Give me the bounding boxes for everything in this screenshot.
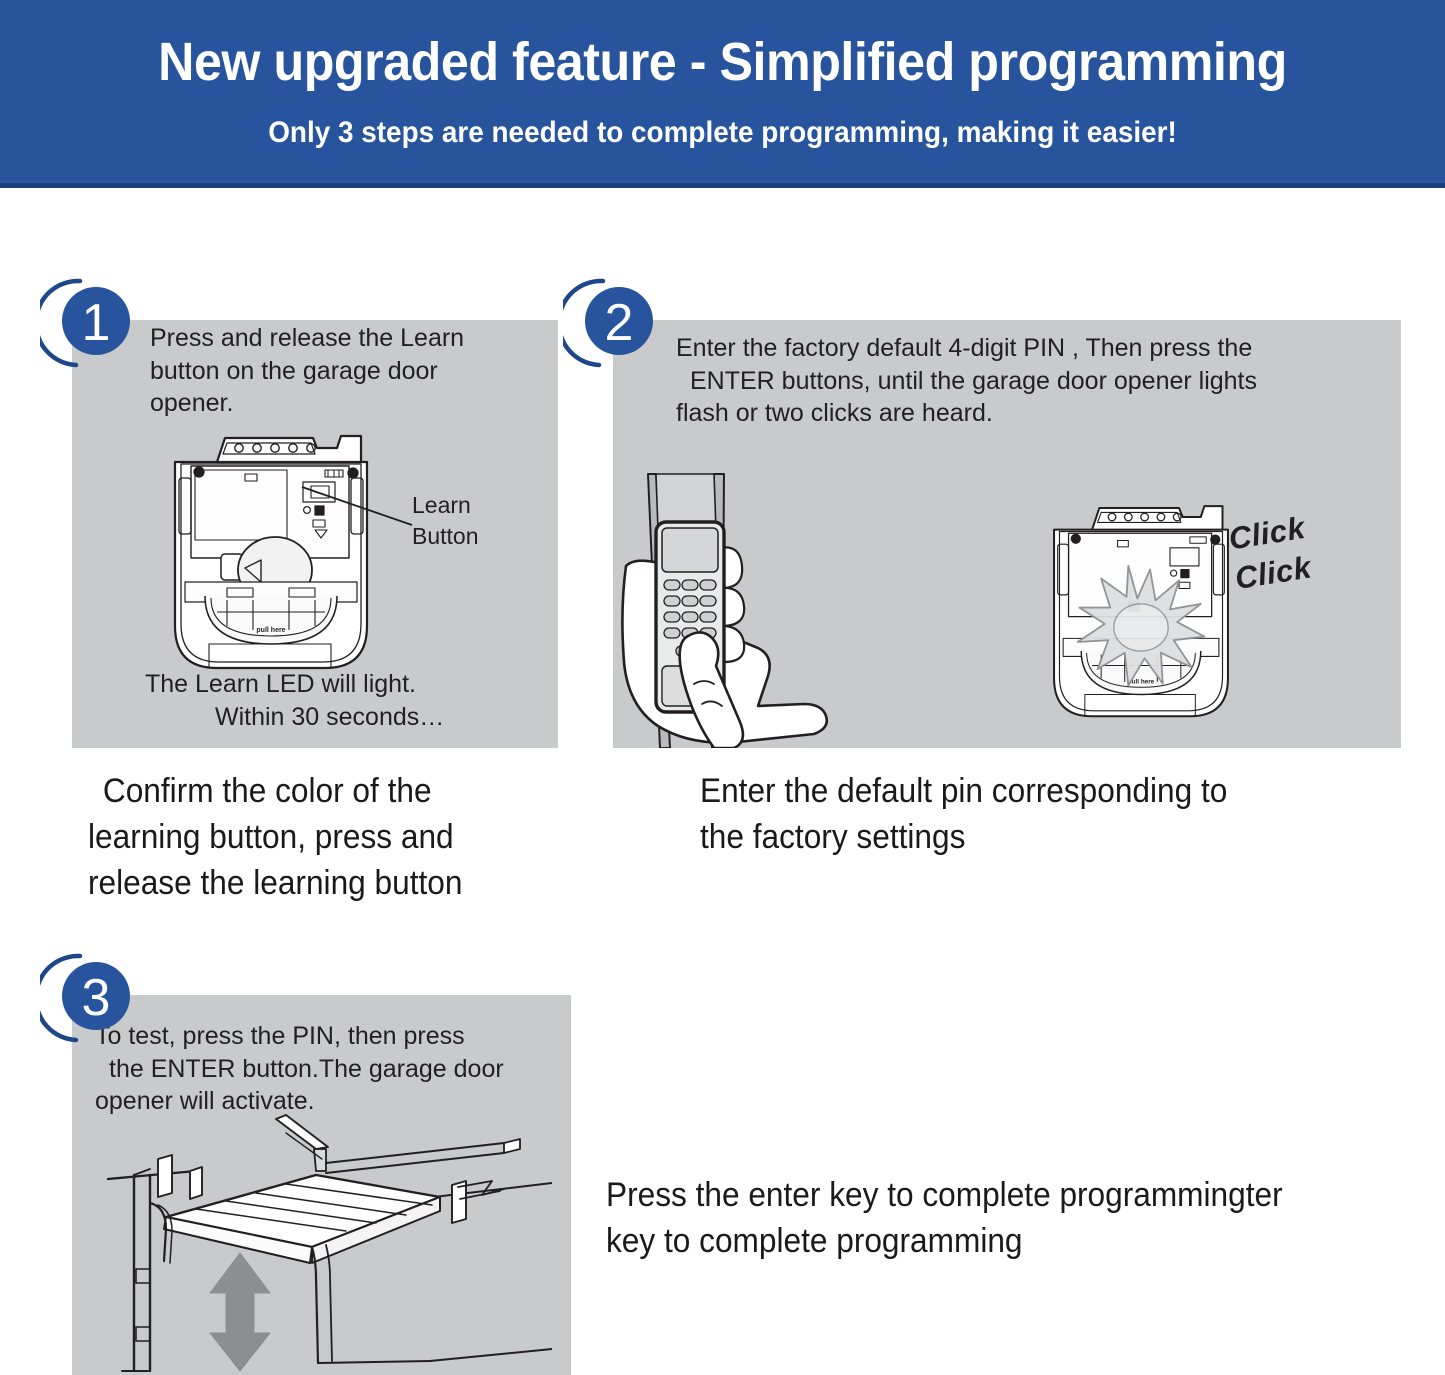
step-2-instruction-line-2: ENTER buttons, until the garage door ope… (676, 365, 1386, 398)
step-2-instruction-line-1: Enter the factory default 4-digit PIN , … (676, 332, 1386, 365)
hand-holding-keypad-illustration (618, 470, 833, 748)
garage-door-illustration (100, 1113, 552, 1375)
up-down-arrow (210, 1253, 270, 1371)
svg-text:pull here: pull here (256, 627, 285, 634)
step-1-caption-line-3: release the learning button (88, 860, 609, 906)
step-1-instruction-line-3: opener. (150, 387, 510, 420)
step-3-instruction-line-1: To test, press the PIN, then press (95, 1020, 555, 1053)
step-2-caption: Enter the default pin corresponding to t… (700, 768, 1407, 860)
learn-button-callout-line-2: Button (412, 521, 479, 552)
step-1-instruction-text: Press and release the Learn button on th… (150, 322, 510, 420)
step-2-caption-line-1: Enter the default pin corresponding to (700, 768, 1407, 814)
step-1-instruction-line-2: button on the garage door (150, 355, 510, 388)
click-sound-label: Click Click (1226, 508, 1314, 598)
step-3-caption-line-1: Press the enter key to complete programm… (606, 1172, 1443, 1218)
step-3-instruction-line-2: the ENTER button.The garage door (95, 1053, 555, 1086)
learn-button-callout-label: Learn Button (412, 490, 479, 552)
page-title: New upgraded feature - Simplified progra… (51, 34, 1395, 91)
step-3-instruction-line-3: opener will activate. (95, 1085, 555, 1118)
step-2-instruction-line-3: flash or two clicks are heard. (676, 397, 1386, 430)
step-3-caption-line-2: key to complete programming (606, 1218, 1443, 1264)
learn-button-callout-line-1: Learn (412, 490, 479, 521)
step-1-caption: Confirm the color of the learning button… (88, 768, 609, 907)
step-2-caption-line-2: the factory settings (700, 814, 1407, 860)
header-banner-underline (0, 183, 1445, 188)
step-2-instruction-text: Enter the factory default 4-digit PIN , … (676, 332, 1386, 430)
learn-button-leader-line (300, 485, 420, 535)
step-1-instruction-line-1: Press and release the Learn (150, 322, 510, 355)
step-3-caption: Press the enter key to complete programm… (606, 1172, 1443, 1264)
step-1-led-note-line-2: Within 30 seconds… (145, 701, 545, 734)
step-1-led-note-line-1: The Learn LED will light. (145, 668, 545, 701)
step-3-instruction-text: To test, press the PIN, then press the E… (95, 1020, 555, 1118)
garage-door-opener-illustration: pull here (165, 430, 377, 678)
step-1-caption-line-2: learning button, press and (88, 814, 609, 860)
garage-door-opener-flashing-illustration: pull here (1045, 500, 1237, 726)
step-1-caption-line-1: Confirm the color of the (88, 768, 609, 814)
step-1-led-note: The Learn LED will light. Within 30 seco… (145, 668, 545, 733)
page-subtitle: Only 3 steps are needed to complete prog… (51, 116, 1395, 149)
